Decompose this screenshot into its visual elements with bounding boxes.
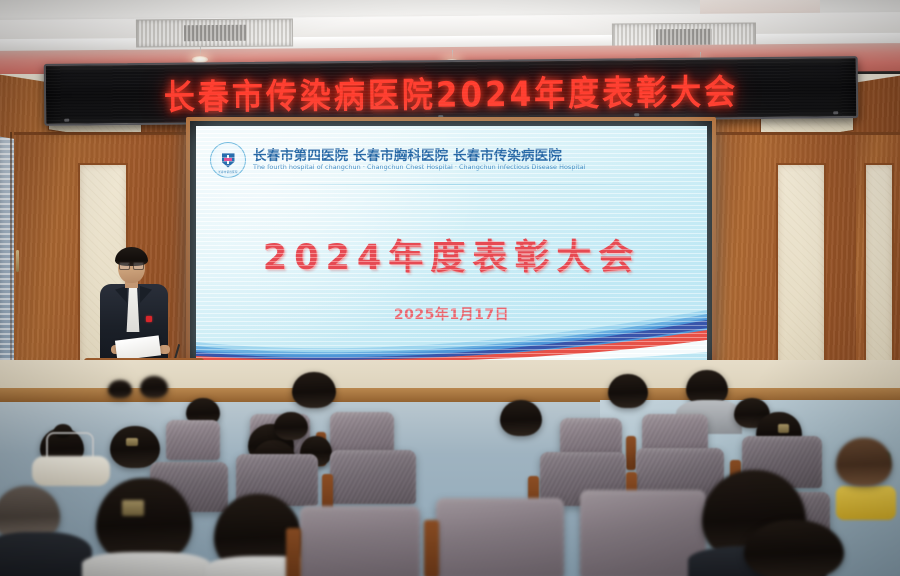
hospital-logo-icon: 长春市第四医院 [210, 142, 246, 178]
logo-mini-text: 长春市第四医院 [211, 170, 245, 174]
attendee-head [836, 438, 892, 486]
attendee-head [108, 380, 132, 398]
wall-inset-far-right [864, 163, 894, 377]
hospital-names-cn: 长春市第四医院 长春市胸科医院 长春市传染病医院 [253, 149, 586, 164]
shield-icon [222, 153, 235, 168]
lower-wall [0, 360, 900, 390]
glasses-icon [119, 262, 144, 268]
seat[interactable] [330, 412, 394, 454]
slide-title: 2024年度表彰大会 [196, 229, 707, 280]
attendee-shoulders [82, 552, 210, 576]
attendee-head [274, 412, 308, 440]
projection-screen: 长春市第四医院 长春市第四医院 长春市胸科医院 长春市传染病医院 The fou… [196, 126, 707, 366]
seat[interactable] [300, 506, 420, 576]
slide-header: 长春市第四医院 长春市第四医院 长春市胸科医院 长春市传染病医院 The fou… [210, 142, 693, 178]
hair-clip [122, 500, 144, 516]
attendee-head [110, 426, 160, 468]
led-banner-text: 长春市传染病医院2024年度表彰大会 [164, 63, 739, 119]
seat[interactable] [330, 450, 416, 504]
conference-photo-scene: 长春市传染病医院2024年度表彰大会 长春市第四医院 长春市第四医院 长春市胸科… [0, 0, 900, 576]
air-vent-left [136, 18, 293, 47]
seat[interactable] [436, 498, 564, 576]
spotlight-stem-1 [200, 47, 201, 56]
hair-clip [778, 424, 789, 433]
led-banner: 长春市传染病医院2024年度表彰大会 [44, 56, 859, 126]
attendee-head [744, 520, 844, 576]
yellow-bag [836, 486, 896, 520]
attendee-head [500, 400, 542, 436]
white-fur-scarf [32, 456, 110, 486]
seat-armrest [626, 436, 636, 470]
door-handle-left[interactable] [16, 250, 19, 272]
attendee-head [608, 374, 648, 408]
speaker-party-badge [146, 316, 152, 322]
hospital-name-block: 长春市第四医院 长春市胸科医院 长春市传染病医院 The fourth hosp… [253, 149, 586, 171]
seat-armrest [286, 528, 301, 576]
spotlight-stem-2 [452, 50, 453, 59]
attendee-head [140, 376, 168, 398]
wall-inset-right [776, 163, 826, 377]
attendee-head [292, 372, 336, 408]
slide-header-divider [206, 184, 697, 185]
attendee-shoulders [0, 532, 92, 576]
seat[interactable] [166, 420, 220, 460]
seat-armrest [424, 520, 439, 576]
slide-ribbon-decoration [196, 306, 707, 366]
hair-clip [126, 438, 138, 446]
hospital-names-en: The fourth hospital of changchun · Chang… [253, 164, 586, 171]
